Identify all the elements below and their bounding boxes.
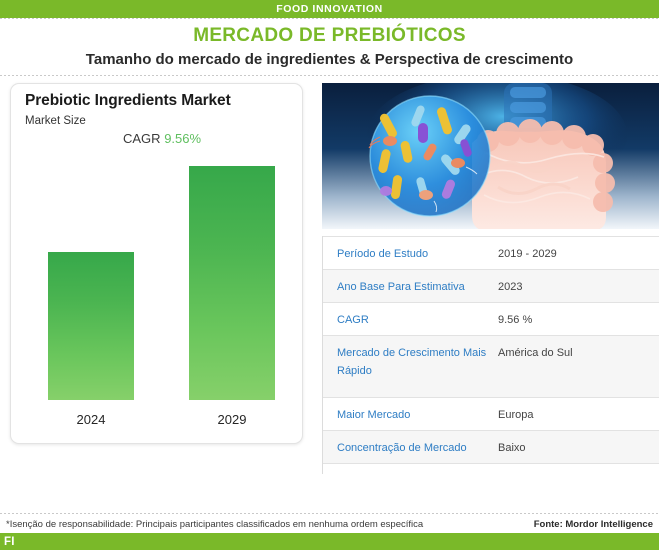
table-row: Ano Base Para Estimativa 2023 [323,270,659,303]
table-row: Período de Estudo 2019 - 2029 [323,236,659,270]
fact-key: Concentração de Mercado [323,431,498,463]
fact-key: CAGR [323,303,498,335]
footer-disclaimer: *Isenção de responsabilidade: Principais… [6,519,423,530]
top-eyebrow-bar: FOOD INNOVATION [0,0,659,18]
page-title: MERCADO DE PREBIÓTICOS [0,24,659,48]
title-block: MERCADO DE PREBIÓTICOS Tamanho do mercad… [0,20,659,75]
gut-microbiome-illustration [322,83,659,229]
fact-key: Maior Mercado [323,398,498,430]
chart-subtitle: Market Size [25,115,86,127]
table-row: Mercado de Crescimento Mais Rápido Améri… [323,336,659,398]
page-subtitle: Tamanho do mercado de ingredientes & Per… [0,49,659,71]
market-facts-table: Período de Estudo 2019 - 2029 Ano Base P… [322,236,659,464]
table-row: Maior Mercado Europa [323,398,659,431]
fact-value: Baixo [498,431,659,463]
footer: *Isenção de responsabilidade: Principais… [0,513,659,550]
right-panel: Período de Estudo 2019 - 2029 Ano Base P… [322,77,659,495]
bar-plot-area: 2024 2029 [11,154,302,443]
bar-label-2029: 2029 [189,412,275,427]
bar-2024 [48,252,134,400]
chart-title: Prebiotic Ingredients Market [25,92,231,110]
eyebrow-label: FOOD INNOVATION [276,3,383,15]
brand-logo: FI [0,536,15,548]
bar-2029 [189,166,275,400]
fact-value: América do Sul [498,336,659,368]
bar-label-2024: 2024 [48,412,134,427]
fact-value: Europa [498,398,659,430]
content-area: Prebiotic Ingredients Market Market Size… [0,77,659,495]
fact-key: Mercado de Crescimento Mais Rápido [323,336,498,386]
table-bottom-spacer [322,464,659,474]
footer-source: Fonte: Mordor Intelligence [534,519,653,530]
chart-cagr-annotation: CAGR 9.56% [123,131,201,146]
market-size-chart-card: Prebiotic Ingredients Market Market Size… [10,83,303,444]
fact-value: 9.56 % [498,303,659,335]
cagr-value: 9.56% [164,131,201,146]
table-row: CAGR 9.56 % [323,303,659,336]
table-row: Concentração de Mercado Baixo [323,431,659,464]
cagr-label: CAGR [123,131,161,146]
fact-key: Período de Estudo [323,237,498,269]
fact-key: Ano Base Para Estimativa [323,270,498,302]
footer-text-row: *Isenção de responsabilidade: Principais… [0,515,659,533]
footer-brand-bar: FI [0,533,659,550]
fact-value: 2023 [498,270,659,302]
fact-value: 2019 - 2029 [498,237,659,269]
